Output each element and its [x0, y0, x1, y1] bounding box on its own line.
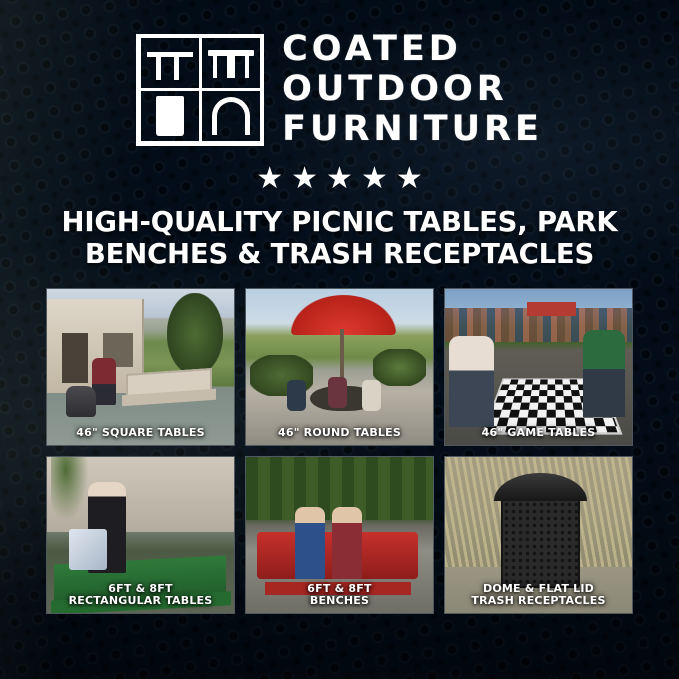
brand-logo: COATED OUTDOOR FURNITURE	[136, 30, 543, 150]
caption-line-1: 46" GAME TABLES	[449, 427, 628, 439]
product-caption: 46" SQUARE TABLES	[47, 422, 234, 445]
product-card-benches: 6FT & 8FT BENCHES	[245, 456, 434, 614]
star-icon-5: ★	[396, 164, 423, 194]
caption-line-1: 46" ROUND TABLES	[250, 427, 429, 439]
star-rating: ★ ★ ★ ★ ★	[256, 164, 423, 194]
star-icon-4: ★	[361, 164, 388, 194]
logo-mark	[136, 34, 264, 146]
caption-line-1: 46" SQUARE TABLES	[51, 427, 230, 439]
star-icon-1: ★	[256, 164, 283, 194]
headline-line-2: BENCHES & TRASH RECEPTACLES	[62, 238, 618, 270]
product-caption: DOME & FLAT LID TRASH RECEPTACLES	[445, 578, 632, 614]
brand-word-2: OUTDOOR	[282, 70, 543, 109]
arch-icon	[199, 88, 263, 144]
caption-line-2: BENCHES	[250, 595, 429, 607]
caption-line-2: RECTANGULAR TABLES	[51, 595, 230, 607]
product-card-square-tables: 46" SQUARE TABLES	[46, 288, 235, 446]
product-card-game-tables: 46" GAME TABLES	[444, 288, 633, 446]
star-icon-2: ★	[291, 164, 318, 194]
park-bench-icon	[199, 35, 263, 91]
brand-name: COATED OUTDOOR FURNITURE	[282, 30, 543, 150]
brand-word-1: COATED	[282, 30, 543, 69]
product-card-trash-receptacles: DOME & FLAT LID TRASH RECEPTACLES	[444, 456, 633, 614]
picnic-table-icon	[138, 35, 202, 91]
product-card-round-tables: 46" ROUND TABLES	[245, 288, 434, 446]
product-caption: 46" GAME TABLES	[445, 422, 632, 445]
advertisement-banner: COATED OUTDOOR FURNITURE ★ ★ ★ ★ ★ HIGH-…	[0, 0, 679, 679]
headline: HIGH-QUALITY PICNIC TABLES, PARK BENCHES…	[62, 206, 618, 271]
trash-can-icon	[138, 88, 202, 144]
product-card-rectangular-tables: 6FT & 8FT RECTANGULAR TABLES	[46, 456, 235, 614]
brand-word-3: FURNITURE	[282, 110, 543, 149]
star-icon-3: ★	[326, 164, 353, 194]
product-caption: 6FT & 8FT RECTANGULAR TABLES	[47, 578, 234, 614]
product-grid: 46" SQUARE TABLES 46" ROUND TABLES	[46, 288, 633, 614]
caption-line-2: TRASH RECEPTACLES	[449, 595, 628, 607]
product-caption: 6FT & 8FT BENCHES	[246, 578, 433, 614]
product-caption: 46" ROUND TABLES	[246, 422, 433, 445]
headline-line-1: HIGH-QUALITY PICNIC TABLES, PARK	[62, 206, 618, 238]
